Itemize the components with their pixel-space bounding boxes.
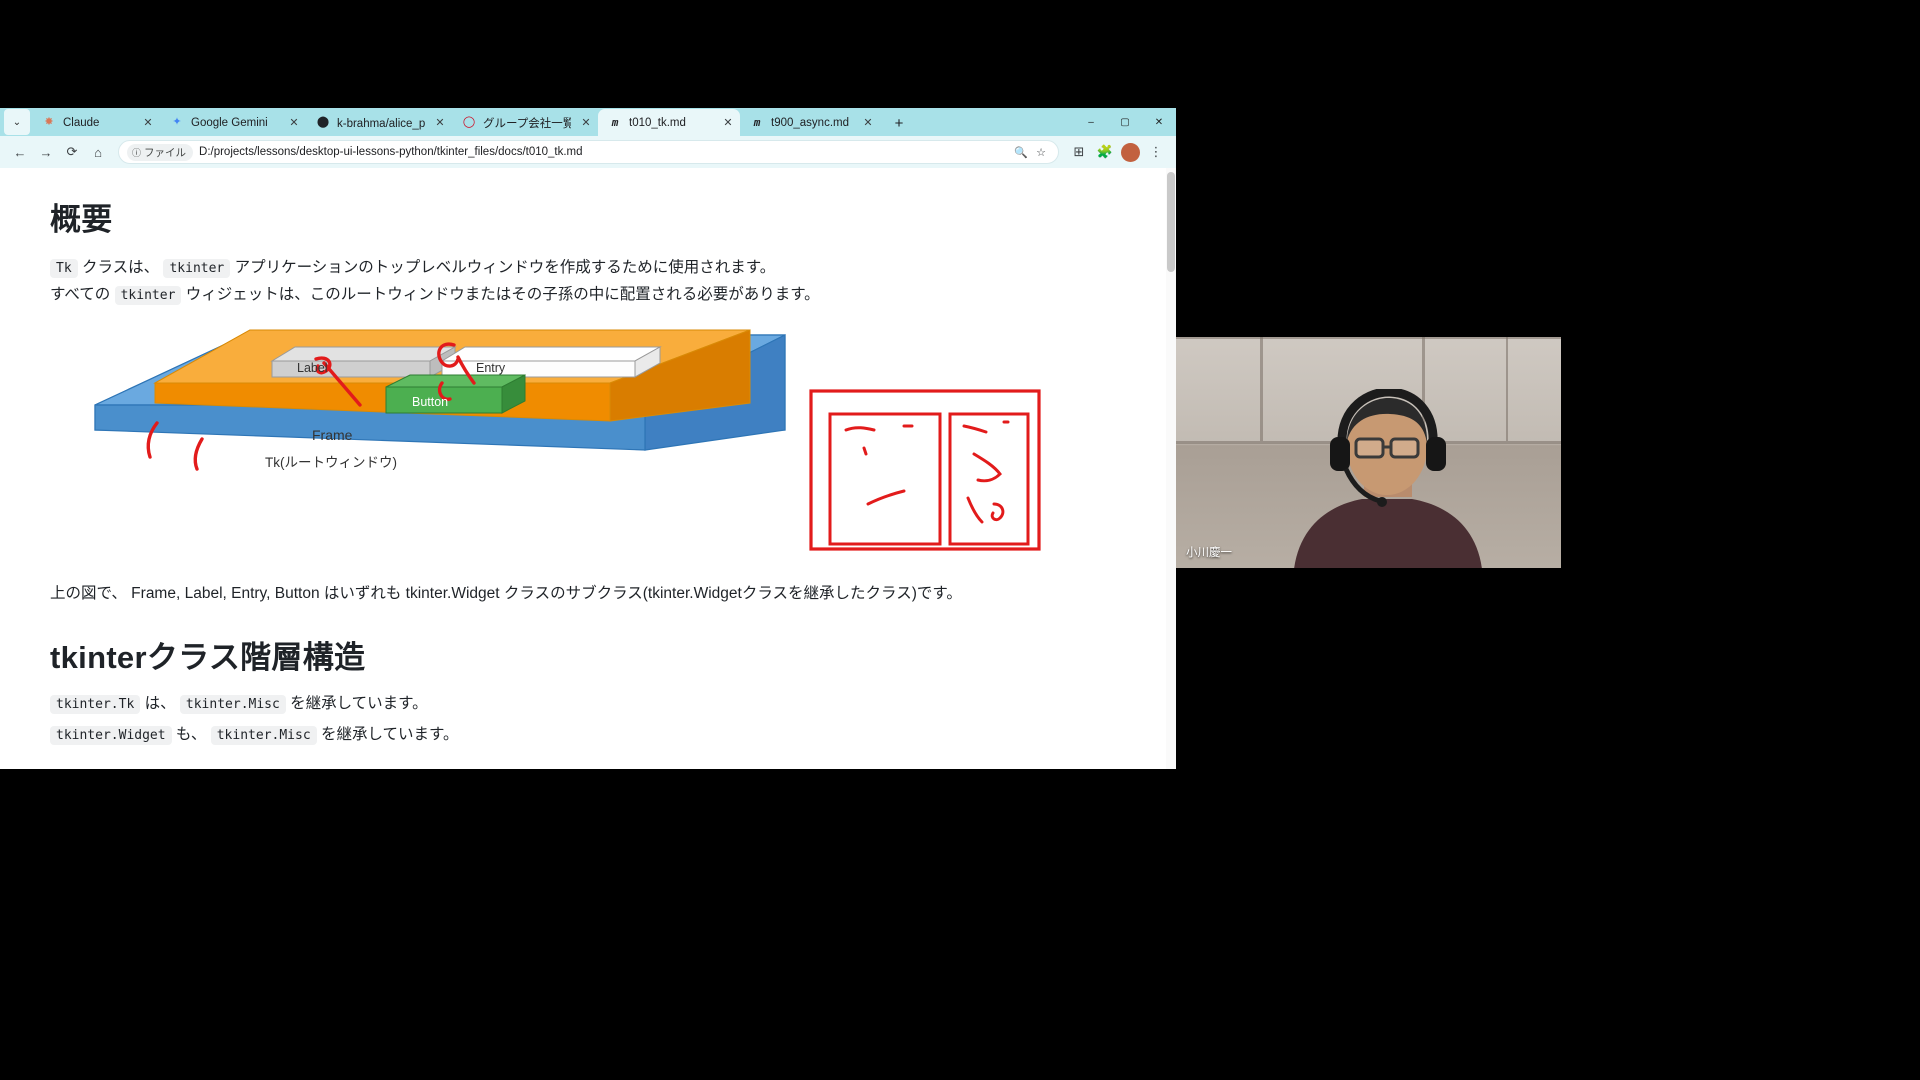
diagram-caption: 上の図で、 Frame, Label, Entry, Button はいずれも …	[50, 581, 1128, 606]
github-icon: ⬤	[316, 116, 330, 130]
wall-line	[1176, 337, 1561, 339]
tab-claude[interactable]: ✸ Claude ✕	[32, 109, 160, 136]
zoom-icon[interactable]: 🔍	[1012, 143, 1030, 161]
code-span: tkinter.Tk	[50, 695, 140, 714]
close-icon[interactable]: ✕	[432, 115, 448, 131]
text-run: を継承しています。	[317, 726, 459, 743]
markdown-icon: m	[750, 116, 764, 130]
page-title: 概要	[50, 194, 1128, 239]
tab-t010-tk-md[interactable]: m t010_tk.md ✕	[598, 109, 740, 136]
split-screen-icon[interactable]: ⊞	[1067, 140, 1091, 164]
tab-label: t010_tk.md	[629, 117, 713, 129]
browser-toolbar: ← → ⟳ ⌂ ⓘ ファイル D:/projects/lessons/deskt…	[0, 136, 1176, 168]
section-heading-class-hierarchy: tkinterクラス階層構造	[50, 632, 1128, 677]
back-icon[interactable]: ←	[8, 140, 32, 164]
file-scheme-chip: ⓘ ファイル	[127, 144, 193, 161]
webcam-video-tile[interactable]: 小川慶一	[1176, 337, 1561, 568]
reload-icon[interactable]: ⟳	[60, 140, 84, 164]
tab-label: Claude	[63, 117, 133, 129]
close-icon[interactable]: ✕	[860, 115, 876, 131]
window-controls: – ▢ ✕	[1074, 108, 1176, 136]
code-span: tkinter.Misc	[211, 726, 317, 745]
diagram-label-frame: Frame	[312, 427, 352, 443]
close-icon[interactable]: ✕	[140, 115, 156, 131]
close-icon[interactable]: ✕	[720, 115, 736, 131]
red-box-annotation	[808, 388, 1058, 563]
tab-strip: ⌄ ✸ Claude ✕ ✦ Google Gemini ✕ ⬤ k-brahm…	[0, 108, 1176, 136]
tab-t900-async-md[interactable]: m t900_async.md ✕	[740, 109, 880, 136]
new-tab-button[interactable]: +	[886, 110, 912, 136]
gemini-icon: ✦	[170, 116, 184, 130]
code-span: tkinter	[115, 286, 182, 305]
extensions-icon[interactable]: 🧩	[1093, 140, 1117, 164]
paragraph-2: すべての tkinter ウィジェットは、このルートウィンドウまたはその子孫の中…	[50, 282, 1128, 307]
close-window-button[interactable]: ✕	[1142, 108, 1176, 136]
omnibox-actions: 🔍 ☆	[1012, 143, 1050, 161]
tab-search-icon[interactable]: ⌄	[4, 109, 30, 135]
tab-github-alice-pytorch[interactable]: ⬤ k-brahma/alice_pytorch: alice学 ✕	[306, 109, 452, 136]
bookmark-star-icon[interactable]: ☆	[1032, 143, 1050, 161]
text-run: は、	[140, 695, 180, 712]
forward-icon[interactable]: →	[34, 140, 58, 164]
tab-label: k-brahma/alice_pytorch: alice学	[337, 115, 425, 131]
paragraph-1: Tk クラスは、 tkinter アプリケーションのトップレベルウィンドウを作成…	[50, 255, 1128, 280]
close-icon[interactable]: ✕	[578, 115, 594, 131]
tab-google-gemini[interactable]: ✦ Google Gemini ✕	[160, 109, 306, 136]
diagram-label-entry: Entry	[476, 361, 505, 375]
profile-avatar[interactable]	[1121, 143, 1140, 162]
claude-icon: ✸	[42, 116, 56, 130]
tkinter-structure-diagram: Label Entry Button Frame Tk(ルートウィンドウ)	[50, 325, 1070, 565]
tab-group-companies[interactable]: ◯ グループ会社一覧（国内グループ会 ✕	[452, 109, 598, 136]
diagram-label-label: Label	[297, 361, 328, 375]
wall-line	[1506, 337, 1508, 441]
text-run: ウィジェットは、このルートウィンドウまたはその子孫の中に配置される必要があります…	[181, 286, 819, 303]
circle-icon: ◯	[462, 116, 476, 130]
paragraph-5: tkinter モジュールを見ると、以下のような継承構造になっていることを確認で…	[50, 768, 1128, 769]
maximize-button[interactable]: ▢	[1108, 108, 1142, 136]
code-span: Tk	[50, 259, 78, 278]
scrollbar-thumb[interactable]	[1167, 172, 1175, 272]
home-icon[interactable]: ⌂	[86, 140, 110, 164]
text-run: すべての	[50, 286, 115, 303]
browser-window: ⌄ ✸ Claude ✕ ✦ Google Gemini ✕ ⬤ k-brahm…	[0, 108, 1176, 769]
paragraph-4: tkinter.Widget も、 tkinter.Misc を継承しています。	[50, 722, 1128, 747]
diagram-label-tk-root: Tk(ルートウィンドウ)	[265, 451, 397, 471]
file-chip-label: ファイル	[144, 145, 186, 160]
code-span: tkinter.Widget	[50, 726, 172, 745]
address-bar[interactable]: ⓘ ファイル D:/projects/lessons/desktop-ui-le…	[118, 140, 1059, 164]
info-icon: ⓘ	[132, 146, 141, 159]
wall-line	[1260, 337, 1263, 441]
paragraph-3: tkinter.Tk は、 tkinter.Misc を継承しています。	[50, 691, 1128, 716]
text-run: クラスは、	[78, 259, 164, 276]
browser-menu-icon[interactable]: ⋮	[1144, 140, 1168, 164]
tab-label: t900_async.md	[771, 117, 853, 129]
code-span: tkinter.Misc	[180, 695, 286, 714]
url-text: D:/projects/lessons/desktop-ui-lessons-p…	[199, 146, 583, 158]
page-scrollbar[interactable]	[1166, 168, 1176, 769]
diagram-label-button: Button	[412, 395, 448, 409]
close-icon[interactable]: ✕	[286, 115, 302, 131]
text-run: を継承しています。	[286, 695, 428, 712]
text-run: も、	[172, 726, 211, 743]
page-content: 概要 Tk クラスは、 tkinter アプリケーションのトップレベルウィンドウ…	[0, 168, 1176, 769]
tab-label: Google Gemini	[191, 117, 279, 129]
text-run: アプリケーションのトップレベルウィンドウを作成するために使用されます。	[230, 259, 775, 276]
code-span: tkinter	[163, 259, 230, 278]
tab-label: グループ会社一覧（国内グループ会	[483, 115, 571, 131]
participant-name-label: 小川慶一	[1186, 544, 1232, 560]
screen-root: ⌄ ✸ Claude ✕ ✦ Google Gemini ✕ ⬤ k-brahm…	[0, 0, 1920, 1080]
person-silhouette	[1286, 389, 1486, 568]
minimize-button[interactable]: –	[1074, 108, 1108, 136]
markdown-icon: m	[608, 116, 622, 130]
